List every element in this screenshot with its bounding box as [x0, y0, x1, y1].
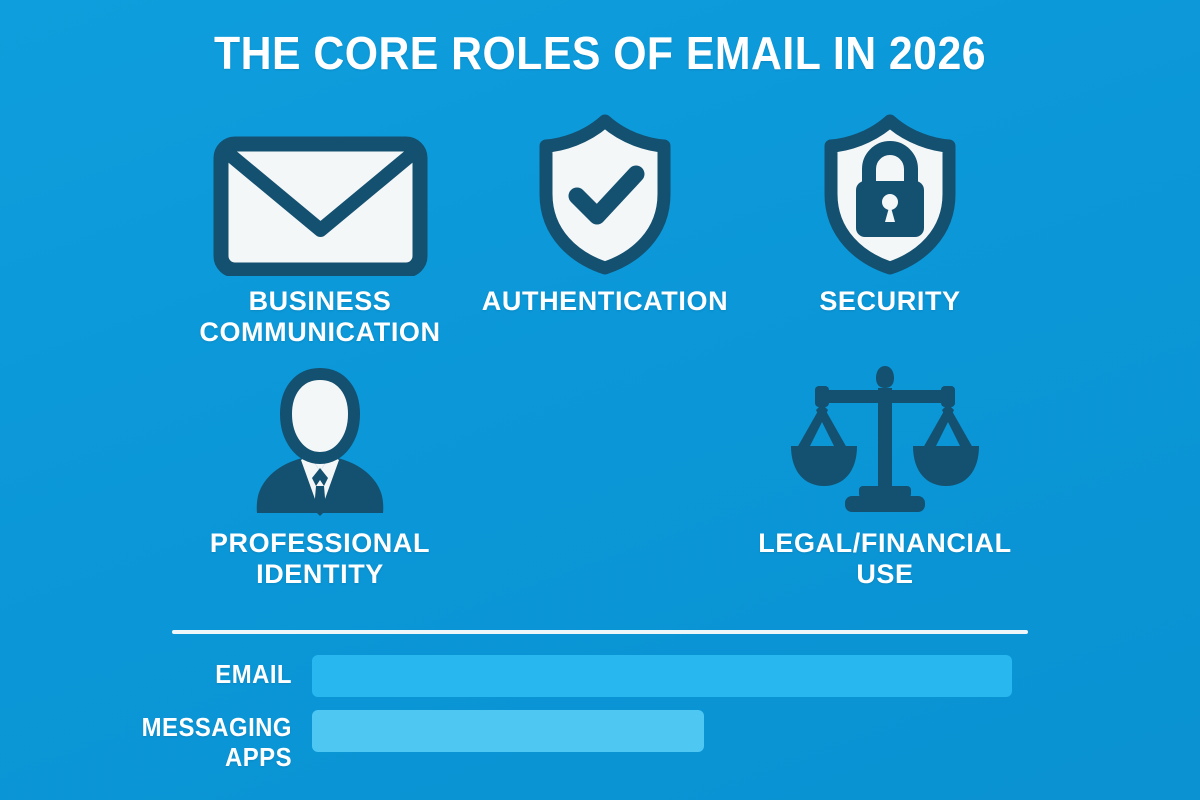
role-card-security: SECURITY	[740, 112, 1040, 317]
bar-fill-messaging-apps	[312, 710, 704, 752]
role-label-authentication: AUTHENTICATION	[455, 286, 755, 317]
role-label-business-communication: BUSINESS COMMUNICATION	[165, 286, 475, 348]
section-divider	[172, 630, 1028, 634]
bar-track-email	[312, 655, 1012, 697]
bar-fill-email	[312, 655, 1012, 697]
scales-of-justice-icon	[787, 362, 983, 518]
bar-row-email: EMAIL	[0, 655, 1200, 697]
role-label-line-1: SECURITY	[740, 286, 1040, 317]
business-person-icon-wrap	[165, 368, 475, 518]
shield-lock-icon-wrap	[740, 112, 1040, 276]
role-label-line-1: PROFESSIONAL	[165, 528, 475, 559]
role-card-authentication: AUTHENTICATION	[455, 112, 755, 317]
bar-row-messaging-apps: MESSAGING APPS	[0, 710, 1200, 752]
envelope-icon-wrap	[165, 126, 475, 276]
role-card-business-communication: BUSINESS COMMUNICATION	[165, 126, 475, 348]
role-label-line-1: AUTHENTICATION	[455, 286, 755, 317]
role-label-line-2: IDENTITY	[165, 559, 475, 590]
page-title: THE CORE ROLES OF EMAIL IN 2026	[42, 26, 1158, 80]
shield-check-icon	[530, 112, 680, 276]
role-label-line-2: USE	[730, 559, 1040, 590]
bar-track-messaging-apps	[312, 710, 1012, 752]
bar-label-line-1: EMAIL	[16, 660, 292, 690]
bar-label-messaging-apps: MESSAGING APPS	[16, 713, 292, 773]
role-label-line-1: LEGAL/FINANCIAL	[730, 528, 1040, 559]
bar-label-line-2: APPS	[16, 743, 292, 773]
bar-label-email: EMAIL	[16, 660, 292, 690]
shield-lock-icon	[815, 112, 965, 276]
role-label-line-1: BUSINESS	[165, 286, 475, 317]
bar-label-line-1: MESSAGING	[16, 713, 292, 743]
role-card-legal-financial-use: LEGAL/FINANCIAL USE	[730, 362, 1040, 590]
infographic-canvas: THE CORE ROLES OF EMAIL IN 2026 BUSINESS…	[0, 0, 1200, 800]
role-card-professional-identity: PROFESSIONAL IDENTITY	[165, 368, 475, 590]
envelope-icon	[213, 126, 428, 276]
business-person-icon	[248, 368, 392, 518]
role-label-professional-identity: PROFESSIONAL IDENTITY	[165, 528, 475, 590]
shield-check-icon-wrap	[455, 112, 755, 276]
role-label-security: SECURITY	[740, 286, 1040, 317]
role-label-line-2: COMMUNICATION	[165, 317, 475, 348]
scales-of-justice-icon-wrap	[730, 362, 1040, 518]
role-label-legal-financial-use: LEGAL/FINANCIAL USE	[730, 528, 1040, 590]
